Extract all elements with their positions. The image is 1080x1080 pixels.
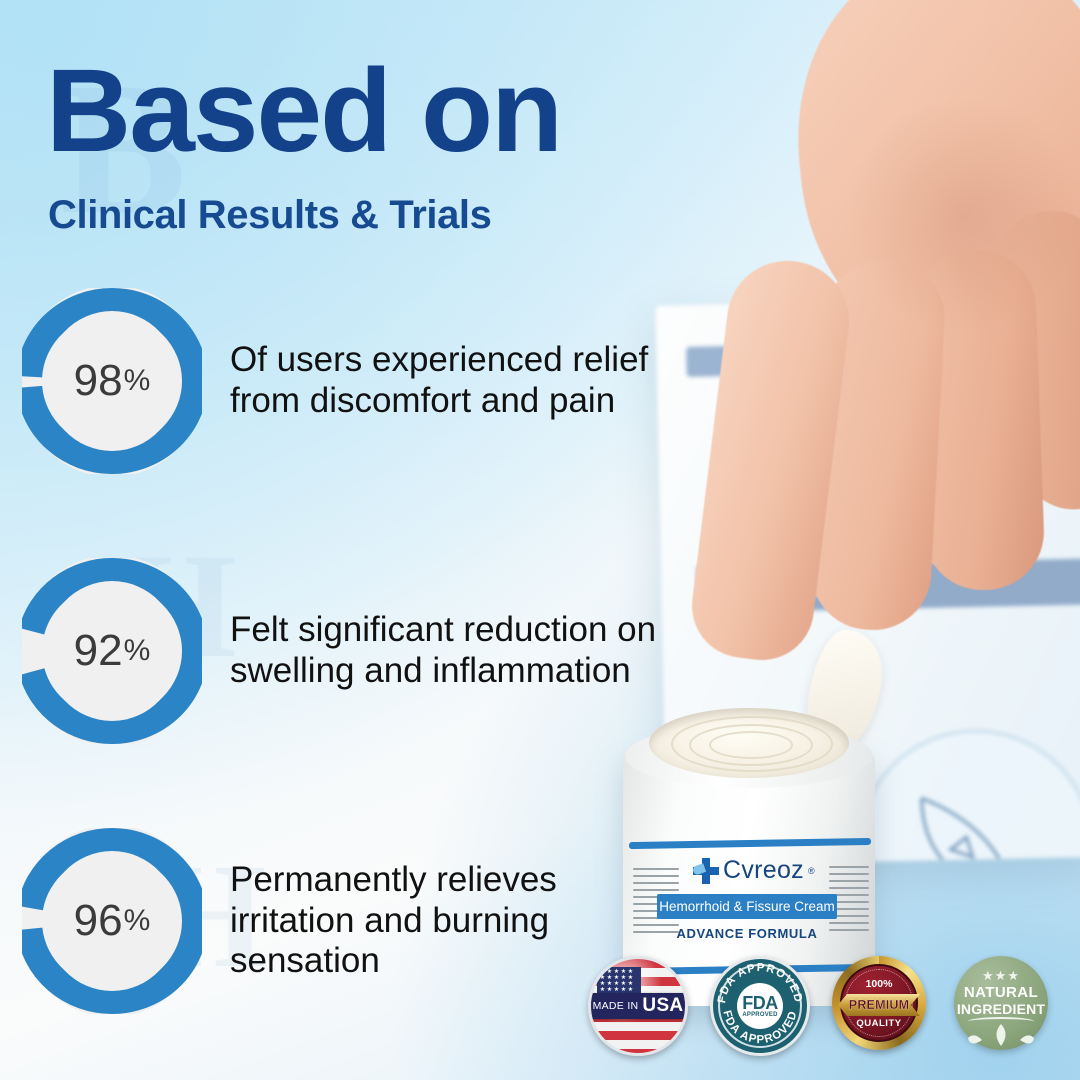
premium-ribbon: PREMIUM: [838, 994, 920, 1016]
stars-icon: ★★★: [954, 968, 1048, 984]
jar-product-name-text: Hemorrhoid & Fissure Cream: [659, 899, 835, 914]
badge-made-in-usa: ★★★★★★ ★★★★★★ ★★★★★★ ★★★★★★ MADE IN USA: [588, 956, 688, 1056]
jar-formula-text: ADVANCE FORMULA: [657, 926, 837, 941]
donut-value-98: 98%: [22, 288, 202, 474]
poster-canvas: B H H W H P C Hemorrh AST EFFECTIVE 30g: [0, 0, 1080, 1080]
badge-premium-quality: 100% PREMIUM QUALITY: [832, 956, 926, 1050]
stat-description: Felt significant reduction on swelling a…: [230, 610, 660, 691]
donut-chart-96: 96%: [22, 828, 202, 1014]
trust-badges: ★★★★★★ ★★★★★★ ★★★★★★ ★★★★★★ MADE IN USA …: [588, 952, 1058, 1052]
badge-line1: MADE IN: [593, 1000, 639, 1012]
medical-cross-icon: [693, 858, 719, 884]
cream-swirl: [709, 731, 793, 759]
stat-row: 98% Of users experienced relief from dis…: [22, 288, 660, 474]
stat-row: 92% Felt significant reduction on swelli…: [22, 558, 660, 744]
jar-brand-text: Cvreoz: [723, 856, 804, 885]
page-title: Based on: [46, 52, 561, 170]
badge-line2: INGREDIENT: [956, 1001, 1046, 1017]
badge-fda-approved: FDA APPROVED FDA APPROVED FDA APPROVED: [710, 956, 810, 1056]
donut-chart-98: 98%: [22, 288, 202, 474]
badge-center-sub: APPROVED: [742, 1012, 777, 1018]
stat-description: Of users experienced relief from discomf…: [230, 340, 660, 421]
made-in-usa-ribbon: MADE IN USA: [589, 993, 687, 1019]
registered-mark: ®: [808, 866, 815, 876]
badge-middle-text: PREMIUM: [849, 998, 909, 1012]
jar-brand-logo: Cvreoz ®: [693, 856, 815, 885]
donut-chart-92: 92%: [22, 558, 202, 744]
badge-natural-ingredient: ★★★ NATURAL INGREDIENT: [954, 956, 1048, 1050]
donut-value-96: 96%: [22, 828, 202, 1014]
badge-line2: USA: [642, 995, 683, 1017]
jar-product-name-band: Hemorrhoid & Fissure Cream: [657, 894, 837, 919]
badge-center-main: FDA: [742, 994, 778, 1012]
donut-value-92: 92%: [22, 558, 202, 744]
badge-bottom-text: QUALITY: [832, 1018, 926, 1029]
hand-shading: [840, 100, 1080, 330]
hand-photo: [690, 0, 1080, 720]
body-diagram-icon: [903, 777, 1056, 866]
badge-top-text: 100%: [832, 978, 926, 990]
stat-row: 96% Permanently relieves irritation and …: [22, 828, 660, 1014]
badge-line1: NATURAL: [960, 984, 1042, 1001]
leaf-icon: [954, 1020, 1048, 1050]
page-subtitle: Clinical Results & Trials: [48, 193, 492, 238]
fda-center-seal: FDA APPROVED: [737, 983, 783, 1029]
